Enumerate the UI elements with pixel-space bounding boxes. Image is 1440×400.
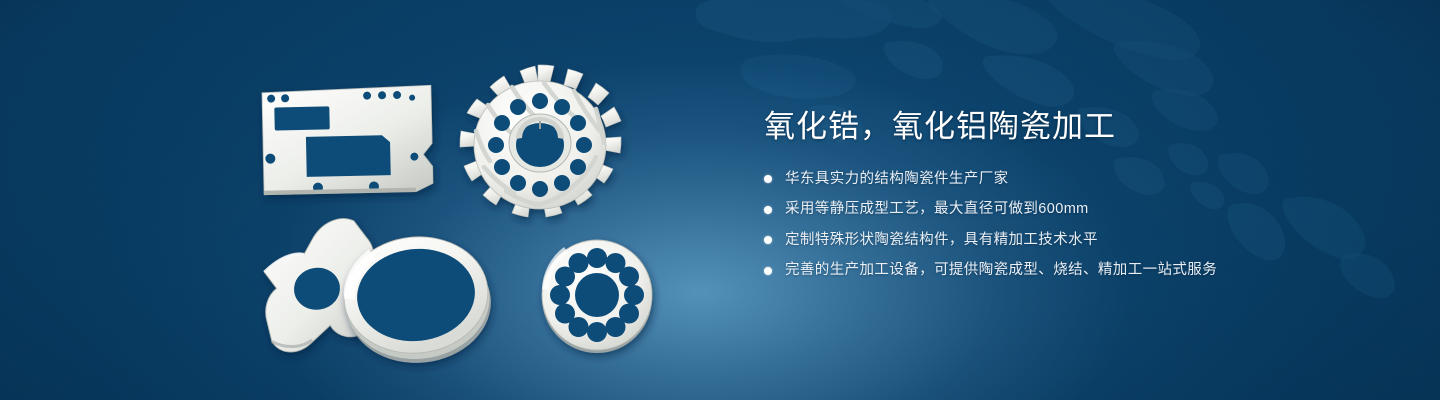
bullet-marker-icon (764, 206, 772, 214)
ceramic-impeller (460, 65, 621, 217)
hero-banner: 氧化锆，氧化铝陶瓷加工 华东具实力的结构陶瓷件生产厂家 采用等静压成型工艺，最大… (0, 0, 1440, 400)
bullet-marker-icon (764, 175, 772, 183)
page-title: 氧化锆，氧化铝陶瓷加工 (764, 108, 1324, 147)
ceramic-perforated-disc (542, 240, 652, 353)
list-item-label: 完善的生产加工设备，可提供陶瓷成型、烧结、精加工一站式服务 (785, 262, 1217, 279)
feature-list: 华东具实力的结构陶瓷件生产厂家 采用等静压成型工艺，最大直径可做到600mm 定… (764, 171, 1324, 280)
list-item: 华东具实力的结构陶瓷件生产厂家 (764, 171, 1324, 188)
list-item-label: 采用等静压成型工艺，最大直径可做到600mm (785, 201, 1089, 218)
product-photo-cluster (230, 40, 680, 380)
list-item-label: 华东具实力的结构陶瓷件生产厂家 (785, 171, 1009, 188)
bullet-marker-icon (764, 236, 772, 244)
list-item-label: 定制特殊形状陶瓷结构件，具有精加工技术水平 (785, 232, 1098, 249)
list-item: 采用等静压成型工艺，最大直径可做到600mm (764, 201, 1324, 218)
bullet-marker-icon (764, 267, 772, 275)
list-item: 完善的生产加工设备，可提供陶瓷成型、烧结、精加工一站式服务 (764, 262, 1324, 279)
banner-copy: 氧化锆，氧化铝陶瓷加工 华东具实力的结构陶瓷件生产厂家 采用等静压成型工艺，最大… (764, 108, 1324, 292)
ceramic-plate (262, 85, 433, 195)
list-item: 定制特殊形状陶瓷结构件，具有精加工技术水平 (764, 232, 1324, 249)
